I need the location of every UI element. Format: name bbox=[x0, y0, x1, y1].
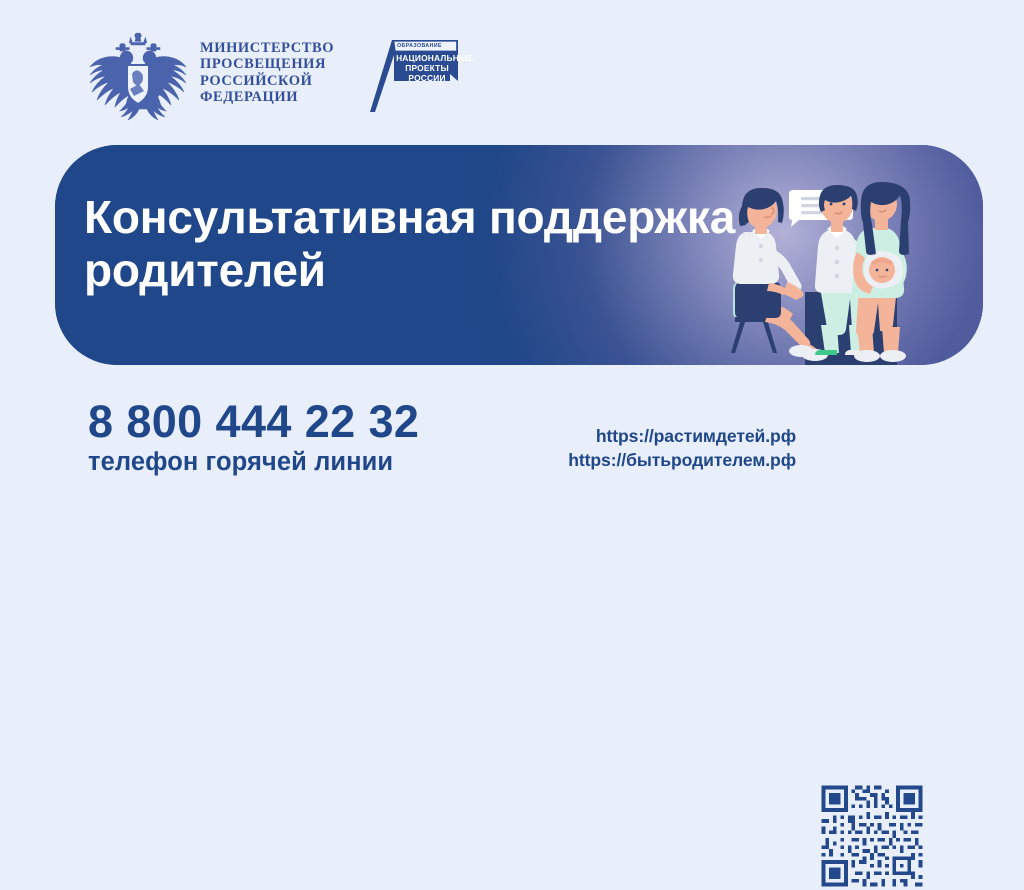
websites-block: https://растимдетей.рф https://быть­роди… bbox=[528, 424, 796, 472]
national-projects-category-label: ОБРАЗОВАНИЕ bbox=[397, 43, 442, 49]
np-label-line-3: РОССИИ bbox=[396, 73, 458, 83]
ministry-name: МИНИСТЕРСТВО ПРОСВЕЩЕНИЯ РОССИЙСКОЙ ФЕДЕ… bbox=[200, 40, 334, 106]
national-projects-logo: ОБРАЗОВАНИЕ НАЦИОНАЛЬНЫЕ ПРОЕКТЫ РОССИИ bbox=[366, 36, 462, 116]
hero-card: Консультативная поддержка родителей bbox=[55, 145, 983, 365]
page-title-line-1: Консультативная поддержка bbox=[84, 191, 744, 244]
family-consultation-illustration bbox=[709, 170, 959, 365]
website-link-bytroditelem[interactable]: https://быть­родителем.рф bbox=[528, 448, 796, 472]
ministry-name-line-4: ФЕДЕРАЦИИ bbox=[200, 89, 334, 105]
ministry-name-line-3: РОССИЙСКОЙ bbox=[200, 73, 334, 89]
np-label-line-2: ПРОЕКТЫ bbox=[396, 63, 458, 73]
header-logos: МИНИСТЕРСТВО ПРОСВЕЩЕНИЯ РОССИЙСКОЙ ФЕДЕ… bbox=[86, 26, 462, 134]
contacts-section: 8 800 444 22 32 телефон горячей линии ht… bbox=[0, 390, 1024, 510]
website-link-rastimdetey[interactable]: https://растимдетей.рф bbox=[528, 424, 796, 448]
ministry-name-line-1: МИНИСТЕРСТВО bbox=[200, 40, 334, 56]
hotline-phone-number[interactable]: 8 800 444 22 32 bbox=[88, 398, 419, 446]
poster-canvas: МИНИСТЕРСТВО ПРОСВЕЩЕНИЯ РОССИЙСКОЙ ФЕДЕ… bbox=[0, 0, 1024, 522]
hotline-caption: телефон горячей линии bbox=[88, 448, 419, 477]
national-projects-main-label: НАЦИОНАЛЬНЫЕ ПРОЕКТЫ РОССИИ bbox=[396, 53, 458, 84]
ministry-name-line-2: ПРОСВЕЩЕНИЯ bbox=[200, 56, 334, 72]
ministry-logo-lockup: МИНИСТЕРСТВО ПРОСВЕЩЕНИЯ РОССИЙСКОЙ ФЕДЕ… bbox=[86, 26, 334, 133]
qr-code-icon[interactable] bbox=[818, 782, 926, 890]
np-label-line-1: НАЦИОНАЛЬНЫЕ bbox=[396, 53, 458, 63]
page-title-line-2: родителей bbox=[84, 244, 744, 297]
page-title: Консультативная поддержка родителей bbox=[84, 191, 744, 297]
hotline-block: 8 800 444 22 32 телефон горячей линии bbox=[88, 398, 419, 477]
russian-double-headed-eagle-emblem-icon bbox=[86, 27, 190, 133]
